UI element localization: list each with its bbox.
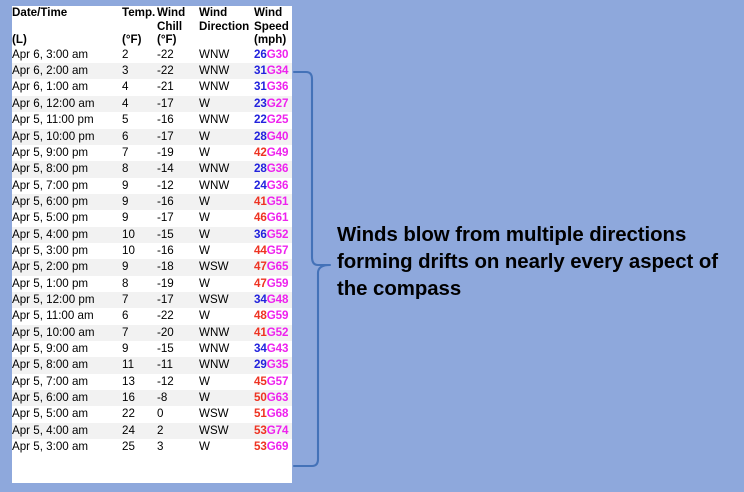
cell-wind-speed: 50G63: [254, 390, 292, 406]
table-row: Apr 5, 2:00 pm9-18WSW47G65: [12, 259, 292, 275]
cell-wind-speed: 23G27: [254, 96, 292, 112]
table-row: Apr 5, 4:00 pm10-15W36G52: [12, 227, 292, 243]
table-row: Apr 5, 6:00 pm9-16W41G51: [12, 194, 292, 210]
cell-temperature: 2: [122, 47, 157, 63]
table-row: Apr 6, 2:00 am3-22WNW31G34: [12, 63, 292, 79]
cell-temperature: 9: [122, 178, 157, 194]
cell-wind-speed: 53G74: [254, 423, 292, 439]
header-temp-line2: [122, 20, 157, 34]
wind-gust-value: G30: [267, 48, 289, 61]
cell-wind-chill: 2: [157, 423, 199, 439]
cell-wind-chill: -17: [157, 292, 199, 308]
wind-gust-value: G59: [267, 277, 289, 290]
cell-wind-direction: WNW: [199, 161, 254, 177]
cell-datetime: Apr 5, 9:00 pm: [12, 145, 122, 161]
cell-datetime: Apr 5, 7:00 pm: [12, 178, 122, 194]
cell-datetime: Apr 5, 6:00 am: [12, 390, 122, 406]
cell-wind-direction: WSW: [199, 259, 254, 275]
header-datetime-line3: (L): [12, 33, 122, 47]
wind-speed-value: 23: [254, 97, 267, 110]
cell-temperature: 9: [122, 341, 157, 357]
cell-wind-direction: WNW: [199, 341, 254, 357]
cell-wind-direction: WNW: [199, 178, 254, 194]
cell-wind-speed: 41G52: [254, 325, 292, 341]
wind-gust-value: G36: [267, 179, 289, 192]
cell-wind-direction: W: [199, 227, 254, 243]
cell-datetime: Apr 5, 11:00 pm: [12, 112, 122, 128]
header-windspeed-line3: (mph): [254, 33, 292, 47]
wind-gust-value: G65: [267, 260, 289, 273]
cell-wind-direction: W: [199, 194, 254, 210]
table-row: Apr 5, 11:00 am6-22W48G59: [12, 308, 292, 324]
wind-gust-value: G63: [267, 391, 289, 404]
cell-wind-chill: -17: [157, 210, 199, 226]
cell-wind-chill: 3: [157, 439, 199, 455]
cell-datetime: Apr 5, 8:00 am: [12, 357, 122, 373]
wind-speed-value: 34: [254, 293, 267, 306]
cell-wind-chill: -16: [157, 194, 199, 210]
cell-wind-direction: W: [199, 439, 254, 455]
cell-datetime: Apr 5, 10:00 am: [12, 325, 122, 341]
cell-wind-direction: W: [199, 129, 254, 145]
cell-wind-chill: -19: [157, 145, 199, 161]
cell-temperature: 5: [122, 112, 157, 128]
cell-wind-speed: 47G65: [254, 259, 292, 275]
cell-wind-direction: WNW: [199, 79, 254, 95]
wind-gust-value: G35: [267, 358, 289, 371]
wind-speed-value: 46: [254, 211, 267, 224]
wind-gust-value: G61: [267, 211, 289, 224]
cell-datetime: Apr 6, 1:00 am: [12, 79, 122, 95]
cell-wind-direction: W: [199, 243, 254, 259]
cell-datetime: Apr 5, 10:00 pm: [12, 129, 122, 145]
cell-wind-chill: -22: [157, 308, 199, 324]
cell-wind-direction: WNW: [199, 47, 254, 63]
cell-wind-chill: -17: [157, 129, 199, 145]
wind-gust-value: G49: [267, 146, 289, 159]
wind-gust-value: G48: [267, 293, 289, 306]
wind-gust-value: G52: [267, 326, 289, 339]
header-winddirection-line3: [199, 33, 254, 47]
cell-temperature: 25: [122, 439, 157, 455]
cell-temperature: 8: [122, 276, 157, 292]
table-row: Apr 5, 4:00 am242WSW53G74: [12, 423, 292, 439]
cell-wind-speed: 46G61: [254, 210, 292, 226]
cell-datetime: Apr 5, 7:00 am: [12, 374, 122, 390]
table-row: Apr 5, 8:00 pm8-14WNW28G36: [12, 161, 292, 177]
table-row: Apr 5, 11:00 pm5-16WNW22G25: [12, 112, 292, 128]
header-windspeed-line1: Wind: [254, 6, 292, 20]
header-row-line2: Chill Direction Speed: [12, 20, 292, 34]
table-row: Apr 5, 10:00 pm6-17W28G40: [12, 129, 292, 145]
cell-wind-chill: -21: [157, 79, 199, 95]
wind-gust-value: G43: [267, 342, 289, 355]
wind-gust-value: G25: [267, 113, 289, 126]
cell-wind-direction: W: [199, 210, 254, 226]
header-datetime-line1: Date/Time: [12, 6, 122, 20]
cell-datetime: Apr 5, 9:00 am: [12, 341, 122, 357]
cell-datetime: Apr 5, 4:00 am: [12, 423, 122, 439]
table-body: Apr 6, 3:00 am2-22WNW26G30Apr 6, 2:00 am…: [12, 47, 292, 456]
cell-wind-speed: 28G40: [254, 129, 292, 145]
header-row-line3: (L) (°F) (°F) (mph): [12, 33, 292, 47]
wind-speed-value: 31: [254, 80, 267, 93]
cell-wind-direction: WNW: [199, 112, 254, 128]
cell-wind-speed: 31G36: [254, 79, 292, 95]
cell-temperature: 24: [122, 423, 157, 439]
cell-wind-chill: -18: [157, 259, 199, 275]
cell-datetime: Apr 6, 12:00 am: [12, 96, 122, 112]
table-row: Apr 5, 3:00 pm10-16W44G57: [12, 243, 292, 259]
cell-wind-direction: WNW: [199, 357, 254, 373]
cell-wind-speed: 53G69: [254, 439, 292, 455]
wind-speed-value: 22: [254, 113, 267, 126]
header-windchill-line3: (°F): [157, 33, 199, 47]
table-row: Apr 5, 9:00 pm7-19W42G49: [12, 145, 292, 161]
wind-gust-value: G34: [267, 64, 289, 77]
cell-datetime: Apr 6, 3:00 am: [12, 47, 122, 63]
cell-wind-direction: WSW: [199, 406, 254, 422]
table-row: Apr 5, 3:00 am253W53G69: [12, 439, 292, 455]
cell-temperature: 4: [122, 79, 157, 95]
wind-gust-value: G27: [267, 97, 289, 110]
cell-datetime: Apr 6, 2:00 am: [12, 63, 122, 79]
cell-wind-direction: W: [199, 276, 254, 292]
cell-wind-speed: 44G57: [254, 243, 292, 259]
wind-speed-value: 36: [254, 228, 267, 241]
cell-datetime: Apr 5, 5:00 am: [12, 406, 122, 422]
cell-wind-chill: -11: [157, 357, 199, 373]
table-row: Apr 5, 5:00 pm9-17W46G61: [12, 210, 292, 226]
cell-datetime: Apr 5, 3:00 pm: [12, 243, 122, 259]
cell-wind-chill: -22: [157, 47, 199, 63]
cell-wind-chill: -12: [157, 374, 199, 390]
wind-gust-value: G51: [267, 195, 289, 208]
header-row-line1: Date/Time Temp. Wind Wind Wind: [12, 6, 292, 20]
cell-wind-chill: -15: [157, 341, 199, 357]
cell-temperature: 8: [122, 161, 157, 177]
cell-wind-chill: -14: [157, 161, 199, 177]
cell-wind-speed: 45G57: [254, 374, 292, 390]
cell-wind-chill: -15: [157, 227, 199, 243]
wind-speed-value: 24: [254, 179, 267, 192]
wind-gust-value: G36: [267, 80, 289, 93]
cell-temperature: 7: [122, 292, 157, 308]
cell-wind-speed: 42G49: [254, 145, 292, 161]
wind-speed-value: 34: [254, 342, 267, 355]
wind-speed-value: 50: [254, 391, 267, 404]
cell-wind-speed: 48G59: [254, 308, 292, 324]
wind-speed-value: 31: [254, 64, 267, 77]
wind-gust-value: G57: [267, 375, 289, 388]
cell-wind-chill: -12: [157, 178, 199, 194]
table-row: Apr 5, 7:00 pm9-12WNW24G36: [12, 178, 292, 194]
cell-wind-direction: WSW: [199, 423, 254, 439]
wind-gust-value: G52: [267, 228, 289, 241]
header-temp-line1: Temp.: [122, 6, 157, 20]
wind-speed-value: 28: [254, 130, 267, 143]
cell-wind-direction: W: [199, 96, 254, 112]
cell-wind-chill: -16: [157, 243, 199, 259]
cell-datetime: Apr 5, 11:00 am: [12, 308, 122, 324]
wind-speed-value: 28: [254, 162, 267, 175]
cell-temperature: 10: [122, 227, 157, 243]
cell-temperature: 7: [122, 325, 157, 341]
cell-datetime: Apr 5, 1:00 pm: [12, 276, 122, 292]
wind-speed-value: 48: [254, 309, 267, 322]
cell-temperature: 13: [122, 374, 157, 390]
cell-wind-direction: WSW: [199, 292, 254, 308]
header-datetime-line2: [12, 20, 122, 34]
wind-gust-value: G68: [267, 407, 289, 420]
table-header: Date/Time Temp. Wind Wind Wind Chill Dir…: [12, 6, 292, 47]
table-row: Apr 5, 12:00 pm7-17WSW34G48: [12, 292, 292, 308]
cell-wind-speed: 41G51: [254, 194, 292, 210]
wind-speed-value: 45: [254, 375, 267, 388]
cell-temperature: 16: [122, 390, 157, 406]
callout-text: Winds blow from multiple directions form…: [337, 222, 733, 303]
cell-temperature: 6: [122, 129, 157, 145]
cell-wind-speed: 22G25: [254, 112, 292, 128]
cell-temperature: 7: [122, 145, 157, 161]
cell-datetime: Apr 5, 2:00 pm: [12, 259, 122, 275]
cell-wind-chill: -22: [157, 63, 199, 79]
table-row: Apr 6, 12:00 am4-17W23G27: [12, 96, 292, 112]
header-windchill-line1: Wind: [157, 6, 199, 20]
cell-temperature: 10: [122, 243, 157, 259]
cell-wind-speed: 34G43: [254, 341, 292, 357]
cell-wind-direction: W: [199, 145, 254, 161]
table-row: Apr 5, 1:00 pm8-19W47G59: [12, 276, 292, 292]
cell-temperature: 9: [122, 194, 157, 210]
cell-wind-speed: 36G52: [254, 227, 292, 243]
header-winddirection-line2: Direction: [199, 20, 254, 34]
wind-speed-value: 51: [254, 407, 267, 420]
wind-speed-value: 26: [254, 48, 267, 61]
wind-speed-value: 41: [254, 195, 267, 208]
cell-wind-direction: W: [199, 374, 254, 390]
cell-wind-speed: 51G68: [254, 406, 292, 422]
wind-speed-value: 41: [254, 326, 267, 339]
header-windchill-line2: Chill: [157, 20, 199, 34]
cell-wind-speed: 28G36: [254, 161, 292, 177]
table-row: Apr 5, 8:00 am11-11WNW29G35: [12, 357, 292, 373]
cell-temperature: 3: [122, 63, 157, 79]
cell-datetime: Apr 5, 4:00 pm: [12, 227, 122, 243]
cell-datetime: Apr 5, 3:00 am: [12, 439, 122, 455]
cell-wind-chill: -17: [157, 96, 199, 112]
cell-temperature: 22: [122, 406, 157, 422]
table-row: Apr 5, 9:00 am9-15WNW34G43: [12, 341, 292, 357]
cell-wind-speed: 31G34: [254, 63, 292, 79]
wind-gust-value: G40: [267, 130, 289, 143]
cell-datetime: Apr 5, 5:00 pm: [12, 210, 122, 226]
wind-gust-value: G69: [267, 440, 289, 453]
table-row: Apr 5, 10:00 am7-20WNW41G52: [12, 325, 292, 341]
table-row: Apr 6, 3:00 am2-22WNW26G30: [12, 47, 292, 63]
table-row: Apr 5, 7:00 am13-12W45G57: [12, 374, 292, 390]
cell-temperature: 6: [122, 308, 157, 324]
table-row: Apr 5, 5:00 am220WSW51G68: [12, 406, 292, 422]
weather-observations-panel: Date/Time Temp. Wind Wind Wind Chill Dir…: [12, 6, 292, 483]
cell-wind-direction: WNW: [199, 325, 254, 341]
header-windspeed-line2: Speed: [254, 20, 292, 34]
wind-speed-value: 47: [254, 277, 267, 290]
cell-temperature: 9: [122, 210, 157, 226]
cell-datetime: Apr 5, 8:00 pm: [12, 161, 122, 177]
wind-gust-value: G57: [267, 244, 289, 257]
cell-temperature: 9: [122, 259, 157, 275]
wind-gust-value: G59: [267, 309, 289, 322]
wind-speed-value: 44: [254, 244, 267, 257]
wind-gust-value: G36: [267, 162, 289, 175]
header-temp-line3: (°F): [122, 33, 157, 47]
weather-observations-table: Date/Time Temp. Wind Wind Wind Chill Dir…: [12, 6, 292, 455]
cell-wind-direction: W: [199, 308, 254, 324]
wind-speed-value: 53: [254, 440, 267, 453]
cell-temperature: 4: [122, 96, 157, 112]
cell-datetime: Apr 5, 12:00 pm: [12, 292, 122, 308]
wind-speed-value: 53: [254, 424, 267, 437]
cell-wind-direction: W: [199, 390, 254, 406]
cell-datetime: Apr 5, 6:00 pm: [12, 194, 122, 210]
cell-wind-speed: 34G48: [254, 292, 292, 308]
header-winddirection-line1: Wind: [199, 6, 254, 20]
wind-speed-value: 42: [254, 146, 267, 159]
brace-annotation-icon: [292, 60, 336, 480]
cell-wind-speed: 47G59: [254, 276, 292, 292]
wind-gust-value: G74: [267, 424, 289, 437]
cell-wind-chill: 0: [157, 406, 199, 422]
wind-speed-value: 47: [254, 260, 267, 273]
cell-temperature: 11: [122, 357, 157, 373]
cell-wind-speed: 26G30: [254, 47, 292, 63]
cell-wind-speed: 24G36: [254, 178, 292, 194]
cell-wind-chill: -16: [157, 112, 199, 128]
cell-wind-speed: 29G35: [254, 357, 292, 373]
wind-speed-value: 29: [254, 358, 267, 371]
cell-wind-chill: -8: [157, 390, 199, 406]
table-row: Apr 6, 1:00 am4-21WNW31G36: [12, 79, 292, 95]
cell-wind-direction: WNW: [199, 63, 254, 79]
cell-wind-chill: -20: [157, 325, 199, 341]
cell-wind-chill: -19: [157, 276, 199, 292]
table-row: Apr 5, 6:00 am16-8W50G63: [12, 390, 292, 406]
